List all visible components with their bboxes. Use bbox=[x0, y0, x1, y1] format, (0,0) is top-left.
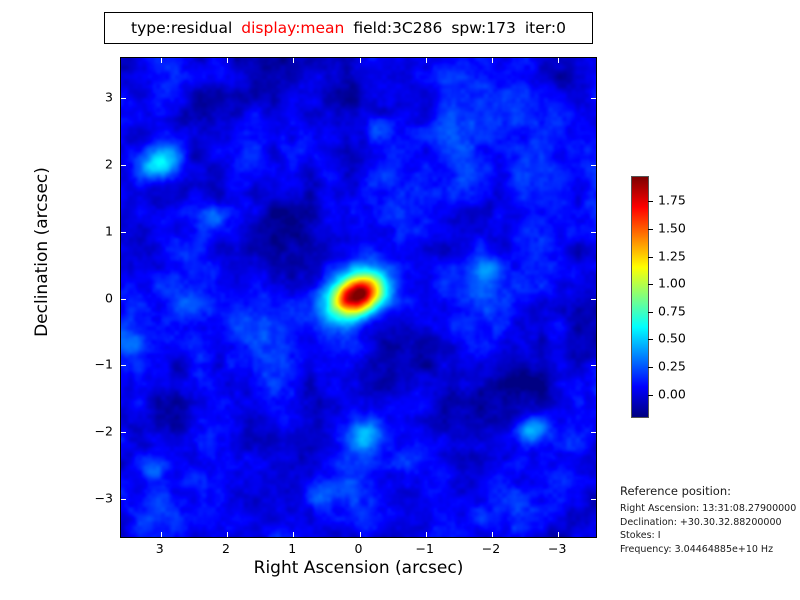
x-tick-label: 2 bbox=[222, 541, 230, 556]
x-tick-label: −2 bbox=[482, 541, 500, 556]
y-tick-label: 0 bbox=[105, 290, 113, 305]
colorbar-tick bbox=[648, 229, 653, 230]
reference-stokes: Stokes: I bbox=[620, 529, 800, 543]
x-tick bbox=[492, 532, 493, 537]
y-tick-label: 3 bbox=[105, 90, 113, 105]
x-tick-top bbox=[360, 58, 361, 63]
y-tick-label: −2 bbox=[95, 424, 113, 439]
colorbar-tick bbox=[648, 201, 653, 202]
colorbar[interactable] bbox=[631, 176, 649, 418]
y-tick bbox=[121, 299, 126, 300]
x-tick bbox=[293, 532, 294, 537]
y-tick-right bbox=[591, 299, 596, 300]
x-tick-top bbox=[426, 58, 427, 63]
metadata-spw: spw:173 bbox=[451, 19, 516, 37]
metadata-title-bar: type:residual display:mean field:3C286 s… bbox=[104, 12, 593, 44]
metadata-field: field:3C286 bbox=[353, 19, 442, 37]
x-tick bbox=[426, 532, 427, 537]
y-tick bbox=[121, 365, 126, 366]
colorbar-tick-label: 0.00 bbox=[658, 386, 686, 401]
x-tick-top bbox=[492, 58, 493, 63]
colorbar-tick-label: 0.75 bbox=[658, 303, 686, 318]
y-tick-right bbox=[591, 432, 596, 433]
image-viewer: type:residual display:mean field:3C286 s… bbox=[0, 0, 800, 600]
sky-image-plot[interactable] bbox=[120, 57, 597, 538]
y-tick-right bbox=[591, 232, 596, 233]
x-tick-top bbox=[293, 58, 294, 63]
metadata-iter: iter:0 bbox=[525, 19, 566, 37]
colorbar-tick bbox=[648, 395, 653, 396]
x-axis-label: Right Ascension (arcsec) bbox=[120, 558, 597, 578]
colorbar-tick bbox=[648, 367, 653, 368]
colorbar-tick-label: 1.75 bbox=[658, 193, 686, 208]
y-tick bbox=[121, 165, 126, 166]
y-tick-right bbox=[591, 165, 596, 166]
x-tick bbox=[360, 532, 361, 537]
reference-frequency: Frequency: 3.04464885e+10 Hz bbox=[620, 543, 800, 557]
x-tick bbox=[227, 532, 228, 537]
reference-position-block: Reference position: Right Ascension: 13:… bbox=[620, 484, 800, 556]
x-tick-top bbox=[227, 58, 228, 63]
x-tick-label: −1 bbox=[416, 541, 434, 556]
x-tick-top bbox=[161, 58, 162, 63]
y-axis-label: Declination (arcsec) bbox=[32, 102, 52, 402]
reference-position-title: Reference position: bbox=[620, 484, 800, 498]
x-tick-label: 1 bbox=[288, 541, 296, 556]
x-tick-label: 0 bbox=[355, 541, 363, 556]
reference-declination: Declination: +30.30.32.88200000 bbox=[620, 516, 800, 530]
colorbar-tick-label: 1.25 bbox=[658, 248, 686, 263]
metadata-type: type:residual bbox=[131, 19, 232, 37]
y-tick-label: 1 bbox=[105, 223, 113, 238]
colorbar-tick bbox=[648, 312, 653, 313]
x-tick-top bbox=[558, 58, 559, 63]
colorbar-tick-label: 1.50 bbox=[658, 220, 686, 235]
colorbar-tick-label: 1.00 bbox=[658, 276, 686, 291]
residual-image-canvas[interactable] bbox=[121, 58, 596, 537]
metadata-display: display:mean bbox=[241, 19, 344, 37]
y-tick-right bbox=[591, 499, 596, 500]
colorbar-tick bbox=[648, 284, 653, 285]
x-tick bbox=[558, 532, 559, 537]
y-tick-label: 2 bbox=[105, 156, 113, 171]
y-tick bbox=[121, 98, 126, 99]
colorbar-tick bbox=[648, 339, 653, 340]
y-tick bbox=[121, 499, 126, 500]
y-tick-right bbox=[591, 98, 596, 99]
y-tick-right bbox=[591, 365, 596, 366]
x-tick-label: −3 bbox=[548, 541, 566, 556]
colorbar-gradient bbox=[632, 177, 648, 417]
x-tick-label: 3 bbox=[156, 541, 164, 556]
y-tick bbox=[121, 232, 126, 233]
x-tick bbox=[161, 532, 162, 537]
colorbar-tick-label: 0.50 bbox=[658, 331, 686, 346]
colorbar-tick bbox=[648, 257, 653, 258]
y-tick-label: −3 bbox=[95, 490, 113, 505]
y-tick bbox=[121, 432, 126, 433]
reference-right-ascension: Right Ascension: 13:31:08.27900000 bbox=[620, 502, 800, 516]
colorbar-tick-label: 0.25 bbox=[658, 359, 686, 374]
y-tick-label: −1 bbox=[95, 357, 113, 372]
